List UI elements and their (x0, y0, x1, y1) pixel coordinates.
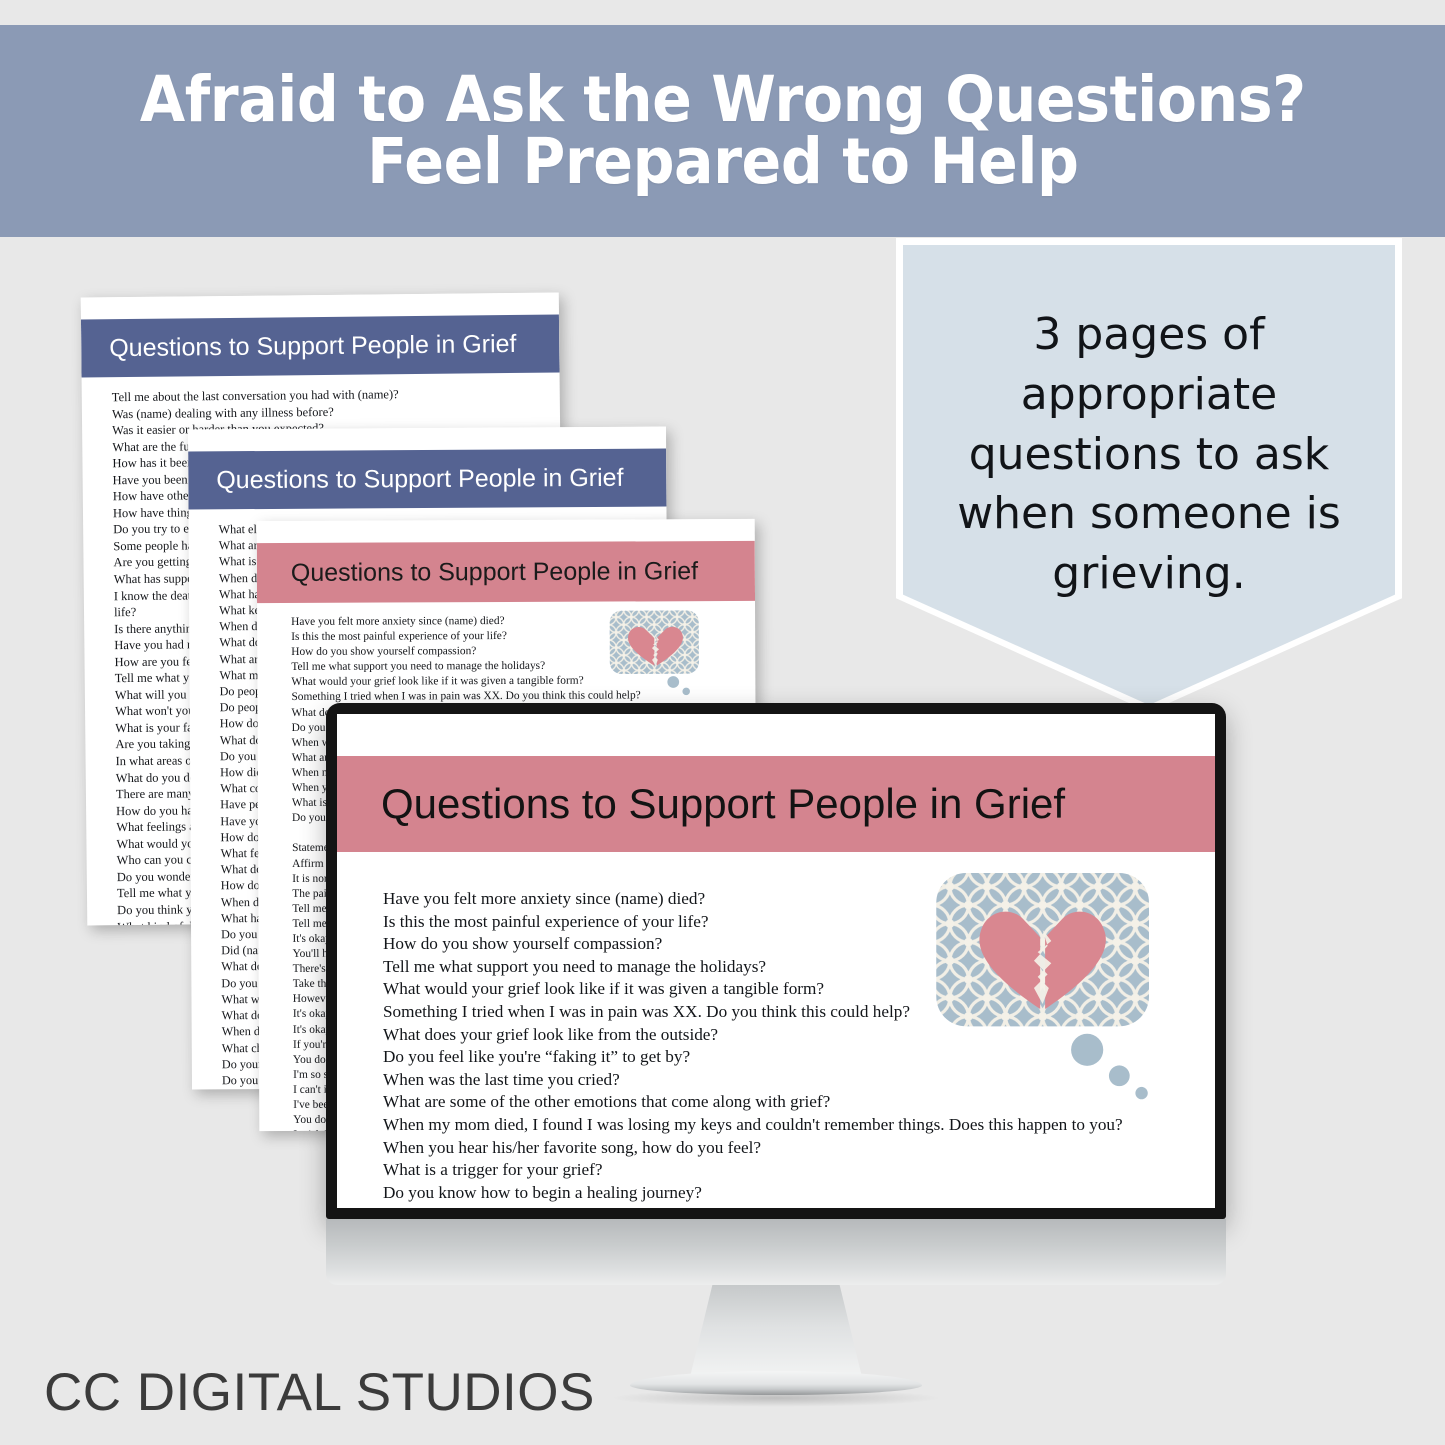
page-3-header-title: Questions to Support People in Grief (291, 557, 698, 588)
page-2-top-margin (188, 427, 666, 452)
broken-heart-thought-bubble-icon (603, 609, 731, 698)
monitor-shadow (610, 1389, 942, 1407)
page-3-header: Questions to Support People in Grief (257, 541, 755, 603)
feature-badge: 3 pages of appropriate questions to ask … (903, 245, 1395, 705)
slide-line: What is a trigger for your grief? (383, 1159, 1215, 1182)
slide-top-margin (337, 714, 1215, 756)
monitor-stand-neck (690, 1285, 862, 1377)
page-1-header-title: Questions to Support People in Grief (109, 329, 516, 362)
slide-body: Have you felt more anxiety since (name) … (337, 852, 1215, 1204)
header-banner: Afraid to Ask the Wrong Questions? Feel … (0, 25, 1445, 237)
badge-text: 3 pages of appropriate questions to ask … (925, 305, 1373, 604)
banner-title-line-2: Feel Prepared to Help (140, 131, 1306, 193)
slide-line: When my mom died, I found I was losing m… (383, 1114, 1215, 1137)
slide-line: Do you know how to begin a healing journ… (383, 1182, 1215, 1205)
monitor-bezel: Questions to Support People in Grief (326, 703, 1226, 1219)
broken-heart-thought-bubble-icon (929, 868, 1181, 1103)
imac-monitor: Questions to Support People in Grief (326, 703, 1226, 1403)
slide-line: When you hear his/her favorite song, how… (383, 1137, 1215, 1160)
page-2-header: Questions to Support People in Grief (188, 449, 666, 510)
page-1-header: Questions to Support People in Grief (81, 315, 560, 378)
page-3-top-margin (257, 519, 755, 543)
page-title: Afraid to Ask the Wrong Questions? Feel … (140, 69, 1306, 192)
monitor-screen[interactable]: Questions to Support People in Grief (337, 714, 1215, 1208)
slide-header-title: Questions to Support People in Grief (381, 780, 1065, 828)
page-2-header-title: Questions to Support People in Grief (216, 463, 623, 494)
brand-logo-text: CC DIGITAL STUDIOS (44, 1362, 595, 1423)
monitor-chin (326, 1219, 1226, 1285)
slide-header: Questions to Support People in Grief (337, 756, 1215, 852)
